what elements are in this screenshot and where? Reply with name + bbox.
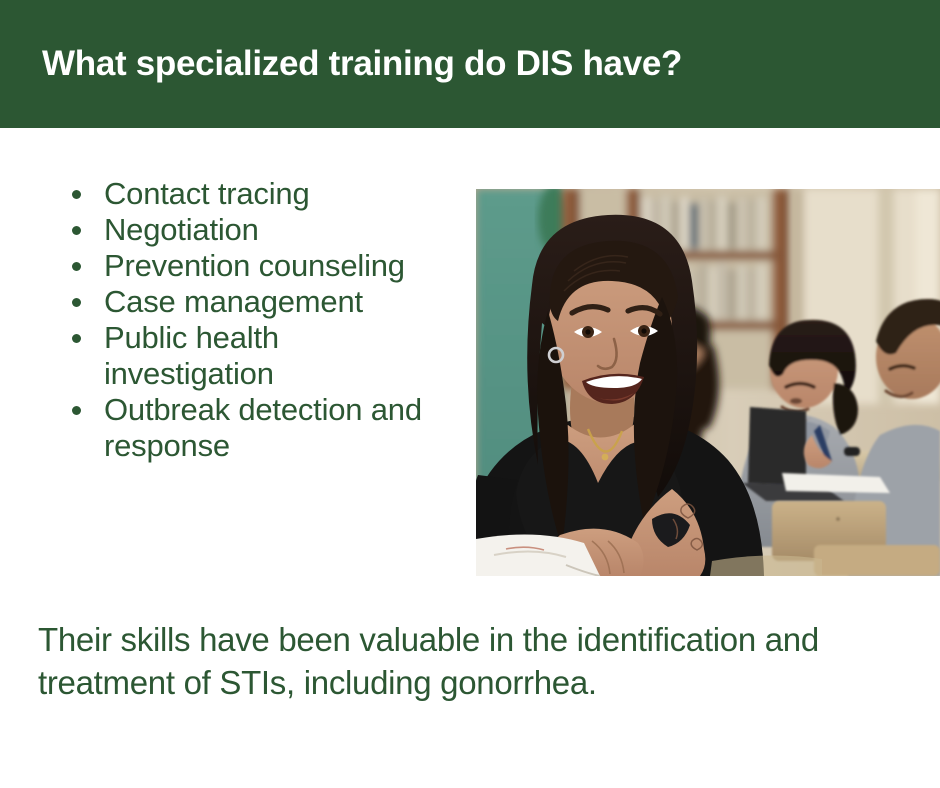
bullet-dot-icon (72, 298, 81, 307)
list-item: Negotiation (62, 212, 442, 248)
bullet-dot-icon (72, 226, 81, 235)
summary-paragraph: Their skills have been valuable in the i… (38, 618, 910, 704)
list-item-label: Negotiation (104, 212, 259, 247)
list-item: Outbreak detection and response (62, 392, 442, 464)
list-item: Public health investigation (62, 320, 442, 392)
list-item-label: Public health investigation (104, 320, 279, 391)
header-band: What specialized training do DIS have? (0, 0, 940, 128)
list-item: Prevention counseling (62, 248, 442, 284)
training-bullet-list: Contact tracing Negotiation Prevention c… (62, 176, 442, 464)
classroom-photo (476, 189, 940, 576)
bullet-dot-icon (72, 262, 81, 271)
classroom-photo-illustration (476, 189, 940, 576)
page-title: What specialized training do DIS have? (42, 43, 902, 85)
bullet-dot-icon (72, 406, 81, 415)
list-item: Case management (62, 284, 442, 320)
list-item-label: Case management (104, 284, 363, 319)
list-item-label: Contact tracing (104, 176, 310, 211)
list-item-label: Prevention counseling (104, 248, 405, 283)
slide: What specialized training do DIS have? C… (0, 0, 940, 788)
list-item: Contact tracing (62, 176, 442, 212)
bullet-dot-icon (72, 334, 81, 343)
bullet-dot-icon (72, 190, 81, 199)
list-item-label: Outbreak detection and response (104, 392, 422, 463)
